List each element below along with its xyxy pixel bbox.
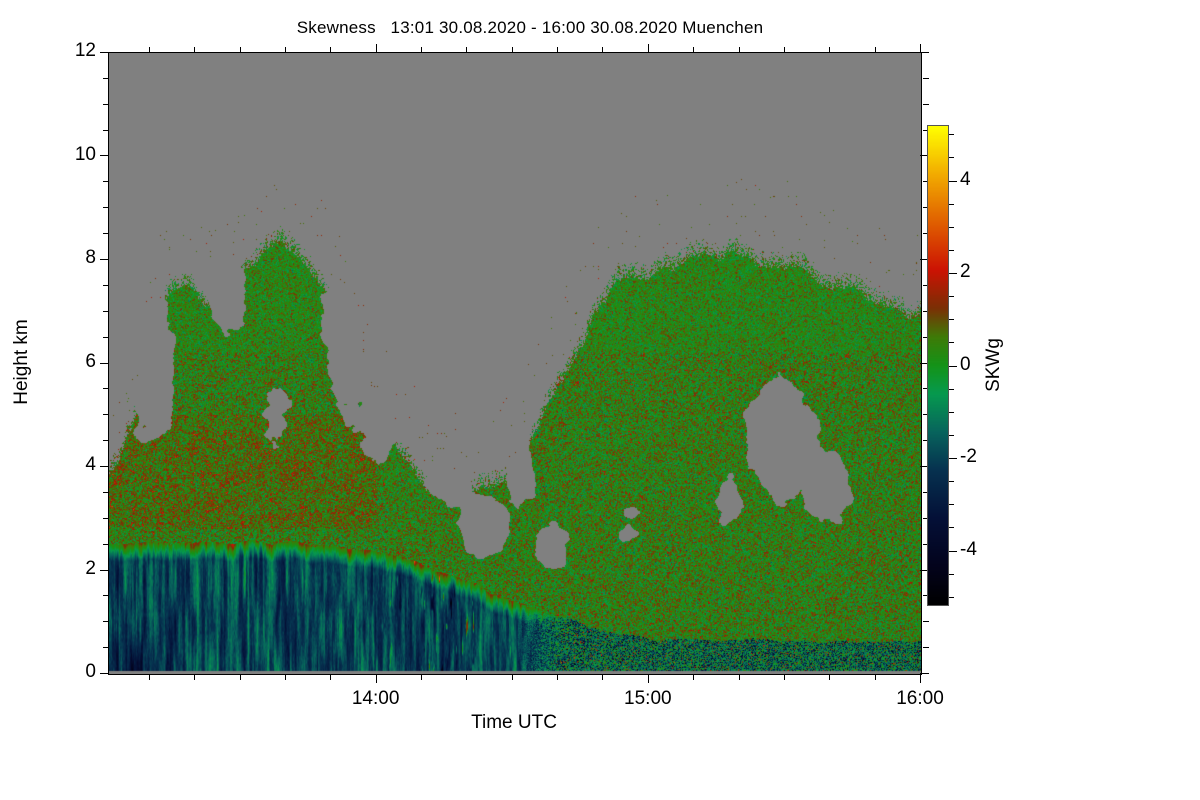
y-tick xyxy=(923,78,929,79)
y-tick-label: 0 xyxy=(36,661,96,683)
colorbar-tick xyxy=(949,319,954,320)
x-tick xyxy=(693,674,694,680)
colorbar-tick-label: 0 xyxy=(960,354,971,376)
y-tick xyxy=(923,647,929,648)
y-tick xyxy=(103,544,109,545)
y-tick-label: 10 xyxy=(36,144,96,166)
x-tick xyxy=(240,674,241,680)
x-tick xyxy=(194,674,195,680)
x-tick xyxy=(875,47,876,53)
colorbar-tick xyxy=(949,366,957,367)
colorbar-title: SKWg xyxy=(983,338,1005,392)
x-tick xyxy=(285,674,286,680)
skewness-heatmap-canvas[interactable] xyxy=(109,53,921,674)
colorbar-tick xyxy=(949,134,954,135)
x-tick xyxy=(330,47,331,53)
x-tick xyxy=(466,674,467,680)
x-tick-label: 15:00 xyxy=(588,688,708,710)
x-tick xyxy=(693,47,694,53)
x-tick xyxy=(829,674,830,680)
x-tick xyxy=(784,674,785,680)
y-tick xyxy=(103,414,109,415)
y-tick-label: 2 xyxy=(36,558,96,580)
colorbar-tick xyxy=(949,504,954,505)
y-tick xyxy=(103,440,109,441)
y-axis-title: Height km xyxy=(11,319,33,405)
colorbar-tick xyxy=(949,204,954,205)
y-tick xyxy=(103,207,109,208)
colorbar-tick-label: 4 xyxy=(960,169,971,191)
y-tick xyxy=(103,311,109,312)
x-tick xyxy=(421,674,422,680)
x-tick xyxy=(920,44,921,53)
y-tick xyxy=(103,337,109,338)
page-title: Skewness 13:01 30.08.2020 - 16:00 30.08.… xyxy=(0,18,1060,38)
y-tick xyxy=(103,492,109,493)
x-tick xyxy=(784,47,785,53)
x-tick xyxy=(602,674,603,680)
x-tick xyxy=(512,674,513,680)
x-tick xyxy=(149,47,150,53)
y-tick xyxy=(920,52,929,53)
y-tick xyxy=(103,104,109,105)
x-tick xyxy=(194,47,195,53)
y-tick xyxy=(103,518,109,519)
y-tick xyxy=(100,466,109,467)
y-tick xyxy=(103,78,109,79)
y-tick xyxy=(923,621,929,622)
x-tick xyxy=(920,674,921,683)
colorbar-tick xyxy=(949,412,954,413)
colorbar-tick xyxy=(949,435,954,436)
x-tick xyxy=(875,674,876,680)
x-tick xyxy=(602,47,603,53)
y-tick-label: 12 xyxy=(36,40,96,62)
colorbar-tick-label: 2 xyxy=(960,261,971,283)
colorbar-tick xyxy=(949,157,954,158)
colorbar-gradient xyxy=(927,125,949,606)
y-tick xyxy=(100,52,109,53)
y-tick xyxy=(923,104,929,105)
x-tick xyxy=(512,47,513,53)
y-tick xyxy=(103,130,109,131)
y-tick xyxy=(920,673,929,674)
x-tick xyxy=(739,47,740,53)
y-tick xyxy=(100,570,109,571)
y-tick xyxy=(103,285,109,286)
x-tick-label: 16:00 xyxy=(860,688,980,710)
colorbar-tick xyxy=(949,481,954,482)
x-tick xyxy=(466,47,467,53)
colorbar-tick xyxy=(949,597,954,598)
colorbar-tick xyxy=(949,181,957,182)
x-tick xyxy=(648,44,649,53)
y-tick-label: 6 xyxy=(36,351,96,373)
y-tick-label: 8 xyxy=(36,247,96,269)
colorbar-tick xyxy=(949,227,954,228)
x-tick xyxy=(829,47,830,53)
plot-area[interactable] xyxy=(108,52,922,675)
colorbar-tick xyxy=(949,296,954,297)
colorbar-tick xyxy=(949,527,954,528)
y-tick xyxy=(103,388,109,389)
colorbar-tick xyxy=(949,250,954,251)
x-tick xyxy=(739,674,740,680)
y-tick xyxy=(100,363,109,364)
y-tick xyxy=(103,233,109,234)
colorbar-tick-label: -2 xyxy=(960,446,977,468)
x-tick xyxy=(421,47,422,53)
x-tick xyxy=(285,47,286,53)
x-tick xyxy=(376,44,377,53)
colorbar-tick xyxy=(949,273,957,274)
x-tick xyxy=(648,674,649,683)
x-tick xyxy=(557,47,558,53)
x-axis-title: Time UTC xyxy=(108,712,920,734)
colorbar-tick xyxy=(949,342,954,343)
x-tick xyxy=(376,674,377,683)
colorbar-tick xyxy=(949,389,954,390)
colorbar-tick-label: -4 xyxy=(960,539,977,561)
x-tick xyxy=(330,674,331,680)
skewness-time-height-figure: Skewness 13:01 30.08.2020 - 16:00 30.08.… xyxy=(0,0,1200,800)
x-tick-label: 14:00 xyxy=(316,688,436,710)
y-tick xyxy=(103,595,109,596)
y-tick xyxy=(103,621,109,622)
y-tick xyxy=(100,259,109,260)
colorbar[interactable] xyxy=(927,125,949,606)
colorbar-tick xyxy=(949,551,957,552)
y-tick xyxy=(100,673,109,674)
colorbar-tick xyxy=(949,458,957,459)
y-tick-label: 4 xyxy=(36,454,96,476)
x-tick xyxy=(240,47,241,53)
y-tick xyxy=(100,155,109,156)
x-tick xyxy=(149,674,150,680)
colorbar-tick xyxy=(949,574,954,575)
x-tick xyxy=(557,674,558,680)
y-tick xyxy=(103,181,109,182)
y-tick xyxy=(103,647,109,648)
